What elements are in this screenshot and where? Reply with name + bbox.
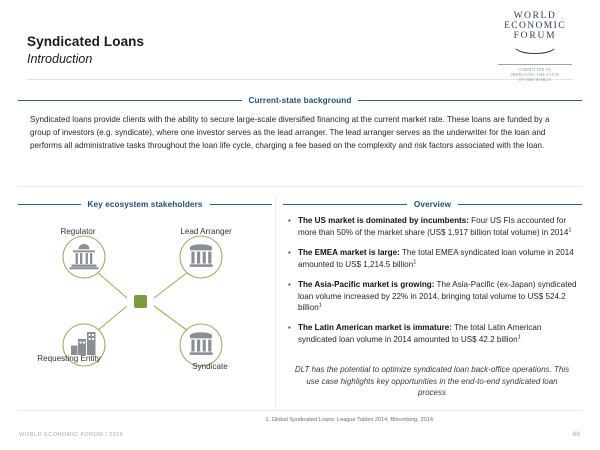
bullet-icon: ▪ [285,215,298,238]
wef-logo: WORLD ECONOMIC FORUM COMMITTED TO IMPROV… [492,12,578,84]
background-paragraph: Syndicated loans provide clients with th… [30,113,572,152]
diagram-node-lead-arranger [180,236,222,278]
logo-tagline-line3: OF THE WORLD [492,78,578,83]
section-header-background: Current-state background [18,96,582,105]
footer-attribution: WORLD ECONOMIC FORUM | 2016 [19,432,123,438]
section-rule-left [18,100,242,101]
bullet-icon: ▪ [285,279,298,314]
logo-divider [498,64,572,65]
overview-list: ▪ The US market is dominated by incumben… [285,215,579,354]
section-rule-right [458,204,582,205]
panel-divider-bottom [18,410,582,411]
list-item: ▪ The Asia-Pacific market is growing: Th… [285,279,579,314]
section-rule-left [18,204,81,205]
bullet-icon: ▪ [285,247,298,270]
footnote-marker: 1 [413,259,416,265]
page-title: Syndicated Loans Introduction [27,34,144,67]
diagram-label-regulator: Regulator [38,226,118,237]
section-label-overview: Overview [407,200,458,209]
section-header-overview: Overview [283,200,582,209]
section-rule-right [210,204,273,205]
footnote: 1. Global Syndicated Loans: League Table… [150,416,550,424]
list-item: ▪ The Latin American market is immature:… [285,322,579,345]
footnote-marker: 1 [319,303,322,309]
diagram-label-lead-arranger: Lead Arranger [160,226,252,237]
section-rule-right [358,100,582,101]
overview-item-lead: The US market is dominated by incumbents… [298,216,469,225]
section-label-stakeholders: Key ecosystem stakeholders [81,200,210,209]
logo-swoosh-icon [515,48,555,55]
overview-item-text: The Asia-Pacific market is growing: The … [298,279,579,314]
diagram-hub-node [134,295,147,308]
diagram-node-syndicate [180,324,222,366]
overview-item-lead: The Latin American market is immature: [298,323,452,332]
section-label-background: Current-state background [242,96,359,105]
dlt-note: DLT has the potential to optimize syndic… [292,364,572,399]
overview-item-text: The US market is dominated by incumbents… [298,215,579,238]
panel-divider-middle [275,196,276,410]
overview-item-text: The EMEA market is large: The total EMEA… [298,247,579,270]
section-header-stakeholders: Key ecosystem stakeholders [18,200,272,209]
bullet-icon: ▪ [285,322,298,345]
slide: Syndicated Loans Introduction WORLD ECON… [0,0,600,450]
diagram-node-regulator [63,236,105,278]
section-rule-left [283,204,407,205]
overview-item-lead: The Asia-Pacific market is growing: [298,280,434,289]
panel-divider-top [18,186,582,187]
page-title-main: Syndicated Loans [27,34,144,50]
overview-item-text: The Latin American market is immature: T… [298,322,579,345]
list-item: ▪ The US market is dominated by incumben… [285,215,579,238]
page-number: 66 [573,431,580,438]
footnote-marker: 1 [568,227,571,233]
diagram-label-requesting-entity: Requesting Entity [32,353,106,364]
overview-item-lead: The EMEA market is large: [298,248,400,257]
footnote-marker: 1 [518,334,521,340]
diagram-label-syndicate: Syndicate [170,361,250,372]
stakeholder-diagram: Regulator Lead Arranger Requesting Entit… [20,214,270,386]
page-title-subtitle: Introduction [27,51,144,67]
logo-line-forum: FORUM [492,32,578,42]
list-item: ▪ The EMEA market is large: The total EM… [285,247,579,270]
